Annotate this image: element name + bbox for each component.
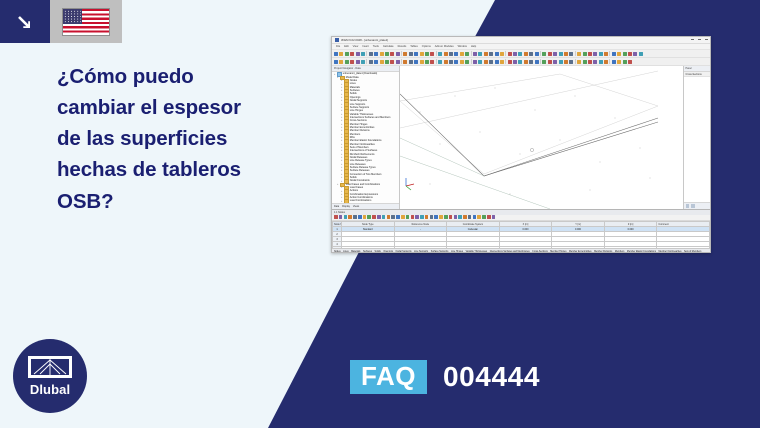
toolbar-button[interactable] — [542, 52, 546, 56]
faq-badge: FAQ 004444 — [350, 360, 540, 394]
table-toolbar-button[interactable] — [382, 215, 386, 219]
table-tab[interactable]: Cross-Sections — [532, 251, 548, 253]
toolbar-button[interactable] — [564, 60, 568, 64]
toolbar-button[interactable] — [465, 52, 469, 56]
toolbar-separator — [401, 59, 402, 64]
toolbar-row-2[interactable] — [332, 58, 710, 66]
headline-line: cambiar el espesor — [57, 92, 307, 123]
toolbar-button[interactable] — [361, 60, 365, 64]
toolbar-separator — [575, 51, 576, 56]
toolbar-button[interactable] — [449, 60, 453, 64]
table-tabs[interactable]: NodesLinesMaterialsSurfacesSolidsOpening… — [332, 248, 710, 253]
table-tab[interactable]: Intersections Surfaces and Membranes — [490, 251, 530, 253]
toolbar-button[interactable] — [633, 52, 637, 56]
toolbar-separator — [505, 51, 506, 56]
toolbar-button[interactable] — [409, 52, 413, 56]
table-tab[interactable]: Surface Supports — [431, 251, 449, 253]
toolbar-button[interactable] — [444, 60, 448, 64]
table-toolbar-button[interactable] — [396, 215, 400, 219]
faq-banner: ¿Cómo puedo cambiar el espesor de las su… — [0, 0, 760, 428]
toolbar-button[interactable] — [604, 60, 608, 64]
toolbar-button[interactable] — [339, 60, 343, 64]
toolbar-button[interactable] — [508, 52, 512, 56]
headline-line: de las superficies — [57, 123, 307, 154]
toolbar-button[interactable] — [518, 52, 522, 56]
toolbar-button[interactable] — [425, 52, 429, 56]
table-toolbar-button[interactable] — [401, 215, 405, 219]
table-toolbar-button[interactable] — [415, 215, 419, 219]
menu-item[interactable]: Help — [471, 45, 476, 48]
toolbar-button[interactable] — [414, 52, 418, 56]
menu-item[interactable]: Options — [422, 45, 431, 48]
headline-line: hechas de tableros — [57, 154, 307, 185]
headline-line: ¿Cómo puedo — [57, 61, 307, 92]
table-toolbar-button[interactable] — [363, 215, 367, 219]
toolbar-button[interactable] — [542, 60, 546, 64]
toolbar-button[interactable] — [524, 52, 528, 56]
table-tab[interactable]: Member Divisions — [594, 251, 612, 253]
toolbar-button[interactable] — [583, 60, 587, 64]
navigator-tab[interactable]: Display — [342, 205, 350, 208]
toolbar-button[interactable] — [500, 60, 504, 64]
toolbar-button[interactable] — [420, 60, 424, 64]
toolbar-button[interactable] — [403, 52, 407, 56]
toolbar-button[interactable] — [380, 60, 384, 64]
toolbar-button[interactable] — [508, 60, 512, 64]
toolbar-button[interactable] — [559, 52, 563, 56]
faq-chip-label: FAQ — [350, 360, 427, 394]
table-toolbar-button[interactable] — [406, 215, 410, 219]
menu-item[interactable]: Edit — [344, 45, 348, 48]
toolbar-button[interactable] — [529, 60, 533, 64]
dlubal-wordmark: Dlubal — [30, 382, 70, 397]
table-toolbar-button[interactable] — [463, 215, 467, 219]
toolbar-button[interactable] — [535, 52, 539, 56]
table-toolbar-button[interactable] — [334, 215, 338, 219]
table-tab[interactable]: Member Elastic Foundations — [627, 251, 656, 253]
navigator-tabs[interactable]: Data Display Views — [332, 203, 399, 209]
window-titlebar: RFEM 6.02.0048 - [unbenannt_plate1] — [332, 37, 710, 44]
table-tab[interactable]: Member Hinges — [550, 251, 566, 253]
table-toolbar-button[interactable] — [411, 215, 415, 219]
toolbar-button[interactable] — [350, 60, 354, 64]
table-toolbar-button[interactable] — [434, 215, 438, 219]
table-toolbar-button[interactable] — [444, 215, 448, 219]
rfem-icon — [335, 38, 339, 42]
toolbar-button[interactable] — [473, 52, 477, 56]
toolbar-button[interactable] — [390, 52, 394, 56]
toolbar-button[interactable] — [604, 52, 608, 56]
toolbar-separator — [471, 59, 472, 64]
side-panel-footer[interactable] — [684, 202, 710, 209]
toolbar-button[interactable] — [444, 52, 448, 56]
table-tab[interactable]: Solids — [375, 251, 381, 253]
toolbar-separator — [436, 51, 437, 56]
toolbar-button[interactable] — [518, 60, 522, 64]
toolbar-button[interactable] — [478, 52, 482, 56]
toolbar-button[interactable] — [345, 60, 349, 64]
toolbar-button[interactable] — [380, 52, 384, 56]
toolbar-button[interactable] — [639, 52, 643, 56]
toolbar-button[interactable] — [588, 52, 592, 56]
table-toolbar-button[interactable] — [473, 215, 477, 219]
arrow-down-right-icon — [0, 0, 50, 43]
toolbar-button[interactable] — [628, 52, 632, 56]
table-tab[interactable]: Surfaces — [363, 251, 372, 253]
toolbar-separator — [609, 51, 610, 56]
toolbar-button[interactable] — [489, 60, 493, 64]
navigator-tab[interactable]: Data — [334, 205, 339, 208]
table-toolbar-button[interactable] — [439, 215, 443, 219]
toolbar-button[interactable] — [473, 60, 477, 64]
flag-container — [50, 0, 122, 43]
window-controls[interactable] — [691, 38, 708, 41]
toolbar-button[interactable] — [529, 52, 533, 56]
toolbar-button[interactable] — [460, 60, 464, 64]
toolbar-button[interactable] — [553, 60, 557, 64]
menu-item[interactable]: Tools — [373, 45, 379, 48]
toolbar-button[interactable] — [588, 60, 592, 64]
toolbar-button[interactable] — [628, 60, 632, 64]
menu-item[interactable]: Results — [398, 45, 407, 48]
toolbar-button[interactable] — [460, 52, 464, 56]
toolbar-button[interactable] — [454, 52, 458, 56]
table-tab[interactable]: Line Supports — [414, 251, 428, 253]
toolbar-button[interactable] — [484, 60, 488, 64]
rfem-screenshot: RFEM 6.02.0048 - [unbenannt_plate1] File… — [331, 36, 711, 253]
menu-item[interactable]: File — [336, 45, 340, 48]
menu-item[interactable]: Tables — [410, 45, 418, 48]
table-tab[interactable]: Openings — [383, 251, 393, 253]
toolbar-button[interactable] — [385, 60, 389, 64]
toolbar-button[interactable] — [339, 52, 343, 56]
toolbar-button[interactable] — [513, 52, 517, 56]
toolbar-button[interactable] — [583, 52, 587, 56]
toolbar-separator — [436, 59, 437, 64]
toolbar-button[interactable] — [484, 52, 488, 56]
table-toolbar-button[interactable] — [449, 215, 453, 219]
table-tab[interactable]: Sets of Members — [684, 251, 701, 253]
toolbar-button[interactable] — [599, 60, 603, 64]
table-tab[interactable]: Nodes — [334, 251, 341, 253]
table-tab[interactable]: Line Hinges — [451, 251, 463, 253]
toolbar-button[interactable] — [356, 52, 360, 56]
table-toolbar-button[interactable] — [482, 215, 486, 219]
toolbar-button[interactable] — [495, 60, 499, 64]
table-tab[interactable]: Nodal Supports — [396, 251, 412, 253]
us-flag-icon — [62, 8, 110, 36]
toolbar-button[interactable] — [465, 60, 469, 64]
toolbar-separator — [575, 59, 576, 64]
toolbar-button[interactable] — [369, 60, 373, 64]
toolbar-button[interactable] — [425, 60, 429, 64]
toolbar-button[interactable] — [617, 52, 621, 56]
toolbar-button[interactable] — [449, 52, 453, 56]
toolbar-button[interactable] — [403, 60, 407, 64]
toolbar-separator — [366, 59, 367, 64]
toolbar-button[interactable] — [396, 52, 400, 56]
toolbar-button[interactable] — [390, 60, 394, 64]
toolbar-button[interactable] — [548, 52, 552, 56]
table-toolbar-button[interactable] — [477, 215, 481, 219]
faq-number: 004444 — [443, 361, 540, 393]
toolbar-separator — [471, 51, 472, 56]
toolbar-button[interactable] — [564, 52, 568, 56]
toolbar-button[interactable] — [345, 52, 349, 56]
side-panel[interactable]: Panel Cross-Sections — [683, 66, 710, 209]
table-toolbar-button[interactable] — [372, 215, 376, 219]
toolbar-button[interactable] — [454, 60, 458, 64]
toolbar-button[interactable] — [623, 60, 627, 64]
navigator-tab[interactable]: Views — [353, 205, 359, 208]
table-toolbar-button[interactable] — [391, 215, 395, 219]
table-tab[interactable]: Lines — [343, 251, 349, 253]
dlubal-bridge-icon — [28, 356, 72, 378]
window-title: RFEM 6.02.0048 - [unbenannt_plate1] — [341, 38, 389, 42]
menu-item[interactable]: Window — [458, 45, 467, 48]
toolbar-button[interactable] — [361, 52, 365, 56]
table-panel: 1.1 Nodes Node No. Node Type Reference N… — [332, 209, 710, 253]
toolbar-button[interactable] — [548, 60, 552, 64]
table-tab[interactable]: Member Eccentricities — [569, 251, 592, 253]
table-toolbar-button[interactable] — [367, 215, 371, 219]
model-wireframe — [400, 66, 660, 209]
language-badge — [0, 0, 122, 43]
toolbar-button[interactable] — [396, 60, 400, 64]
table-toolbar-button[interactable] — [487, 215, 491, 219]
toolbar-separator — [540, 59, 541, 64]
toolbar-button[interactable] — [385, 52, 389, 56]
table-grid[interactable]: Node No. Node Type Reference Node Coordi… — [332, 221, 710, 248]
toolbar-button[interactable] — [612, 52, 616, 56]
toolbar-button[interactable] — [350, 52, 354, 56]
toolbar-button[interactable] — [599, 52, 603, 56]
toolbar-button[interactable] — [577, 52, 581, 56]
toolbar-button[interactable] — [374, 60, 378, 64]
toolbar-button[interactable] — [617, 60, 621, 64]
side-panel-body — [684, 77, 710, 202]
toolbar-button[interactable] — [535, 60, 539, 64]
menu-item[interactable]: View — [353, 45, 359, 48]
table-toolbar-button[interactable] — [425, 215, 429, 219]
toolbar-button[interactable] — [409, 60, 413, 64]
page-title: ¿Cómo puedo cambiar el espesor de las su… — [57, 61, 307, 217]
work-area: Project Navigator - Data +unbenannt_plat… — [332, 66, 710, 209]
table-toolbar-button[interactable] — [339, 215, 343, 219]
toolbar-separator — [401, 51, 402, 56]
toolbar-button[interactable] — [438, 60, 442, 64]
table-toolbar-button[interactable] — [458, 215, 462, 219]
table-toolbar-button[interactable] — [492, 215, 496, 219]
table-tab[interactable]: Member Nonlinearities — [659, 251, 682, 253]
toolbar-button[interactable] — [438, 52, 442, 56]
model-viewport[interactable] — [400, 66, 683, 209]
toolbar-button[interactable] — [559, 60, 563, 64]
toolbar-button[interactable] — [569, 60, 573, 64]
toolbar-button[interactable] — [334, 52, 338, 56]
toolbar-button[interactable] — [577, 60, 581, 64]
headline-line: OSB? — [57, 186, 307, 217]
toolbar-row-1[interactable] — [332, 50, 710, 58]
toolbar-button[interactable] — [593, 52, 597, 56]
toolbar-button[interactable] — [334, 60, 338, 64]
toolbar-button[interactable] — [420, 52, 424, 56]
table-tab[interactable]: Materials — [351, 251, 360, 253]
table-toolbar-button[interactable] — [468, 215, 472, 219]
toolbar-separator — [366, 51, 367, 56]
toolbar-separator — [540, 51, 541, 56]
toolbar-button[interactable] — [612, 60, 616, 64]
toolbar-button[interactable] — [369, 52, 373, 56]
menu-item[interactable]: Calculate — [383, 45, 394, 48]
toolbar-button[interactable] — [513, 60, 517, 64]
menu-item[interactable]: Insert — [362, 45, 369, 48]
toolbar-button[interactable] — [623, 52, 627, 56]
toolbar-button[interactable] — [569, 52, 573, 56]
project-navigator[interactable]: Project Navigator - Data +unbenannt_plat… — [332, 66, 400, 209]
toolbar-button[interactable] — [524, 60, 528, 64]
toolbar-button[interactable] — [553, 52, 557, 56]
table-toolbar-button[interactable] — [353, 215, 357, 219]
toolbar-button[interactable] — [478, 60, 482, 64]
toolbar-button[interactable] — [500, 52, 504, 56]
table-toolbar-button[interactable] — [348, 215, 352, 219]
table-toolbar-button[interactable] — [358, 215, 362, 219]
menu-item[interactable]: Add-on Modules — [435, 45, 454, 48]
table-tab[interactable]: Members — [615, 251, 625, 253]
dlubal-logo: Dlubal — [13, 339, 87, 413]
table-toolbar-button[interactable] — [420, 215, 424, 219]
toolbar-button[interactable] — [414, 60, 418, 64]
toolbar-separator — [609, 59, 610, 64]
table-toolbar-button[interactable] — [430, 215, 434, 219]
toolbar-button[interactable] — [495, 52, 499, 56]
table-toolbar-button[interactable] — [344, 215, 348, 219]
toolbar-separator — [505, 59, 506, 64]
toolbar-button[interactable] — [489, 52, 493, 56]
table-tab[interactable]: Variable Thicknesses — [466, 251, 488, 253]
navigator-tree[interactable]: +unbenannt_plate1 [Downloads]+Model Data… — [332, 72, 399, 203]
table-toolbar-button[interactable] — [387, 215, 391, 219]
toolbar-button[interactable] — [356, 60, 360, 64]
table-toolbar-button[interactable] — [377, 215, 381, 219]
toolbar-button[interactable] — [374, 52, 378, 56]
toolbar-button[interactable] — [430, 60, 434, 64]
toolbar-button[interactable] — [593, 60, 597, 64]
table-toolbar-button[interactable] — [454, 215, 458, 219]
toolbar-button[interactable] — [430, 52, 434, 56]
